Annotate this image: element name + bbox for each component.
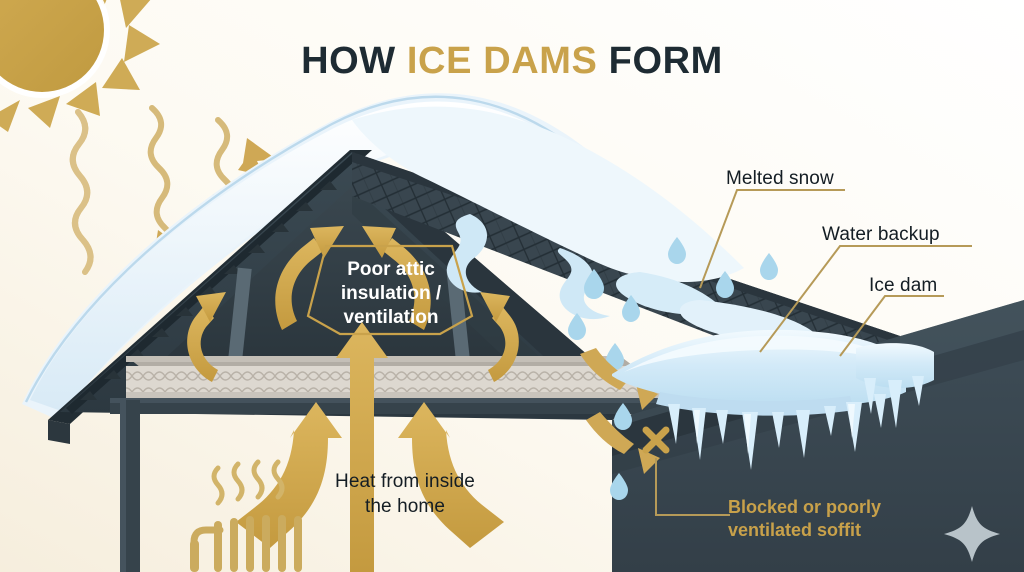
attic-line-3: ventilation [318, 306, 464, 330]
callout-attic-insulation: Poor attic insulation / ventilation [318, 258, 464, 330]
soffit-line-1: Blocked or poorly [728, 496, 881, 519]
page-title: HOW ICE DAMS FORM [0, 40, 1024, 83]
title-part-2: FORM [597, 40, 722, 82]
house-interior-frame [120, 400, 140, 572]
callout-heat-from-inside: Heat from inside the home [310, 470, 500, 519]
soffit-line-2: ventilated soffit [728, 519, 881, 542]
label-water-backup: Water backup [822, 224, 940, 246]
callout-blocked-soffit: Blocked or poorly ventilated soffit [728, 496, 881, 542]
title-highlight: ICE DAMS [407, 40, 598, 82]
label-melted-snow: Melted snow [726, 168, 834, 190]
heat-line-2: the home [310, 495, 500, 520]
heat-line-1: Heat from inside [310, 470, 500, 495]
attic-line-1: Poor attic [318, 258, 464, 282]
infographic-canvas: HOW ICE DAMS FORM Melted snow Water back… [0, 0, 1024, 572]
attic-line-2: insulation / [318, 282, 464, 306]
title-part-1: HOW [301, 40, 407, 82]
label-ice-dam: Ice dam [869, 275, 937, 297]
